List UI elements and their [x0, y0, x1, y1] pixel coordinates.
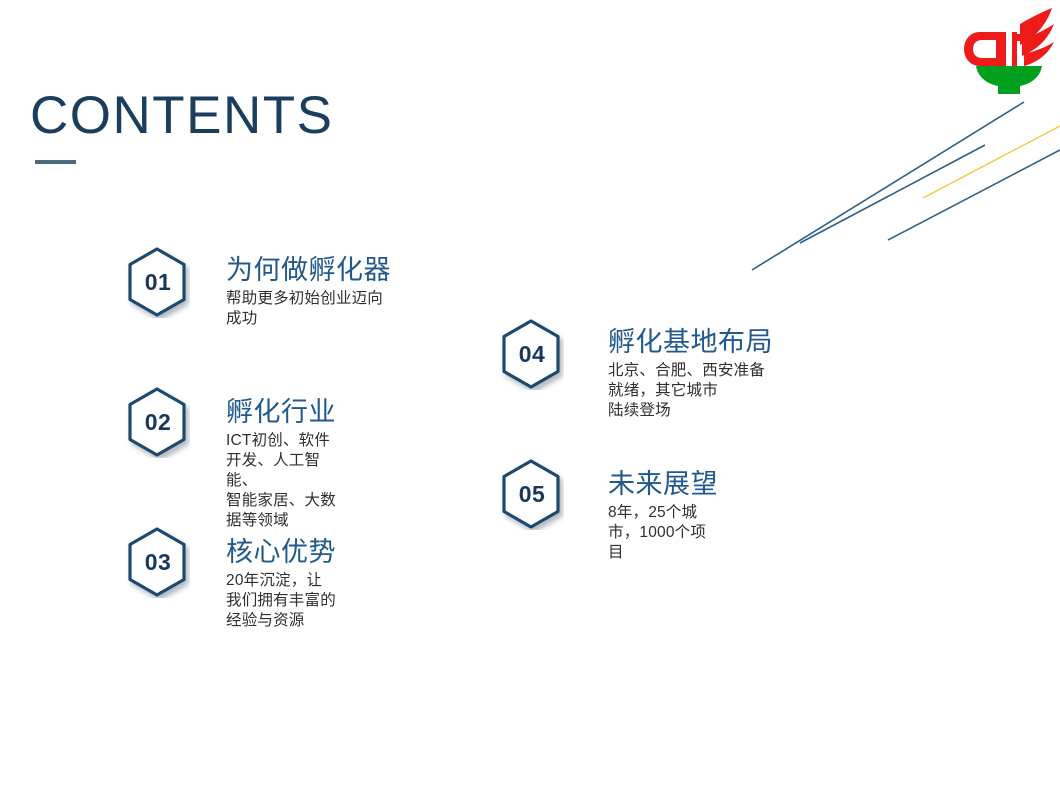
contents-slide: CONTENTS 01 为何做孵化器 帮助更多初始创业迈向成功	[0, 0, 1060, 794]
deco-line-blue-2	[800, 145, 985, 243]
agenda-heading: 未来展望	[608, 468, 718, 500]
agenda-heading: 核心优势	[226, 536, 336, 568]
agenda-number: 05	[500, 458, 564, 530]
deco-line-yellow	[923, 126, 1060, 198]
agenda-number: 03	[126, 526, 190, 598]
agenda-text-block: 孵化行业 ICT初创、软件开发、人工智能、 智能家居、大数据等领域	[226, 396, 336, 531]
logo-wing-icon	[964, 8, 1054, 70]
page-title: CONTENTS	[30, 84, 334, 148]
agenda-text-block: 未来展望 8年，25个城市，1000个项目	[608, 468, 718, 563]
agenda-number: 04	[500, 318, 564, 390]
agenda-text-block: 核心优势 20年沉淀，让我们拥有丰富的经验与资源	[226, 536, 336, 631]
deco-line-blue-1	[752, 102, 1024, 270]
logo-base-icon	[976, 66, 1042, 94]
agenda-subtitle: 帮助更多初始创业迈向成功	[226, 289, 391, 329]
agenda-text-block: 为何做孵化器 帮助更多初始创业迈向成功	[226, 254, 391, 329]
agenda-subtitle: 20年沉淀，让我们拥有丰富的经验与资源	[226, 571, 336, 631]
agenda-subtitle: 8年，25个城市，1000个项目	[608, 503, 718, 563]
agenda-heading: 孵化基地布局	[608, 326, 773, 358]
agenda-number: 02	[126, 386, 190, 458]
agenda-text-block: 孵化基地布局 北京、合肥、西安准备就绪，其它城市 陆续登场	[608, 326, 773, 421]
agenda-number: 01	[126, 246, 190, 318]
agenda-subtitle: 北京、合肥、西安准备就绪，其它城市 陆续登场	[608, 361, 773, 421]
deco-line-blue-3	[888, 150, 1060, 240]
agenda-heading: 孵化行业	[226, 396, 336, 428]
agenda-heading: 为何做孵化器	[226, 254, 391, 286]
title-underline-rule	[35, 160, 76, 164]
agenda-subtitle: ICT初创、软件开发、人工智能、 智能家居、大数据等领域	[226, 431, 336, 531]
company-logo	[962, 4, 1056, 96]
